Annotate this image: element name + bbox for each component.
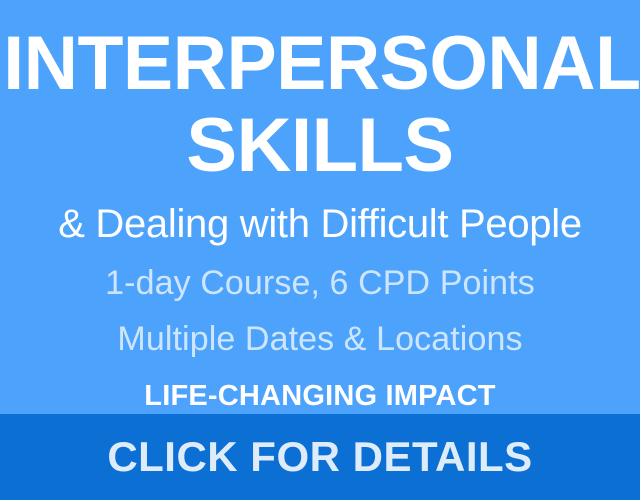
- click-for-details-button[interactable]: CLICK FOR DETAILS: [0, 414, 640, 500]
- cta-button-label: CLICK FOR DETAILS: [107, 436, 532, 478]
- detail-line-course-info: 1-day Course, 6 CPD Points: [0, 266, 640, 300]
- headline-line-2: SKILLS: [0, 108, 640, 184]
- banner-content-area[interactable]: INTERPERSONAL SKILLS & Dealing with Diff…: [0, 0, 640, 414]
- impact-tagline: LIFE-CHANGING IMPACT: [0, 382, 640, 411]
- banner-subtitle: & Dealing with Difficult People: [0, 204, 640, 244]
- detail-line-dates-locations: Multiple Dates & Locations: [0, 322, 640, 356]
- advertisement-banner[interactable]: INTERPERSONAL SKILLS & Dealing with Diff…: [0, 0, 640, 500]
- headline-line-1: INTERPERSONAL: [3, 26, 637, 102]
